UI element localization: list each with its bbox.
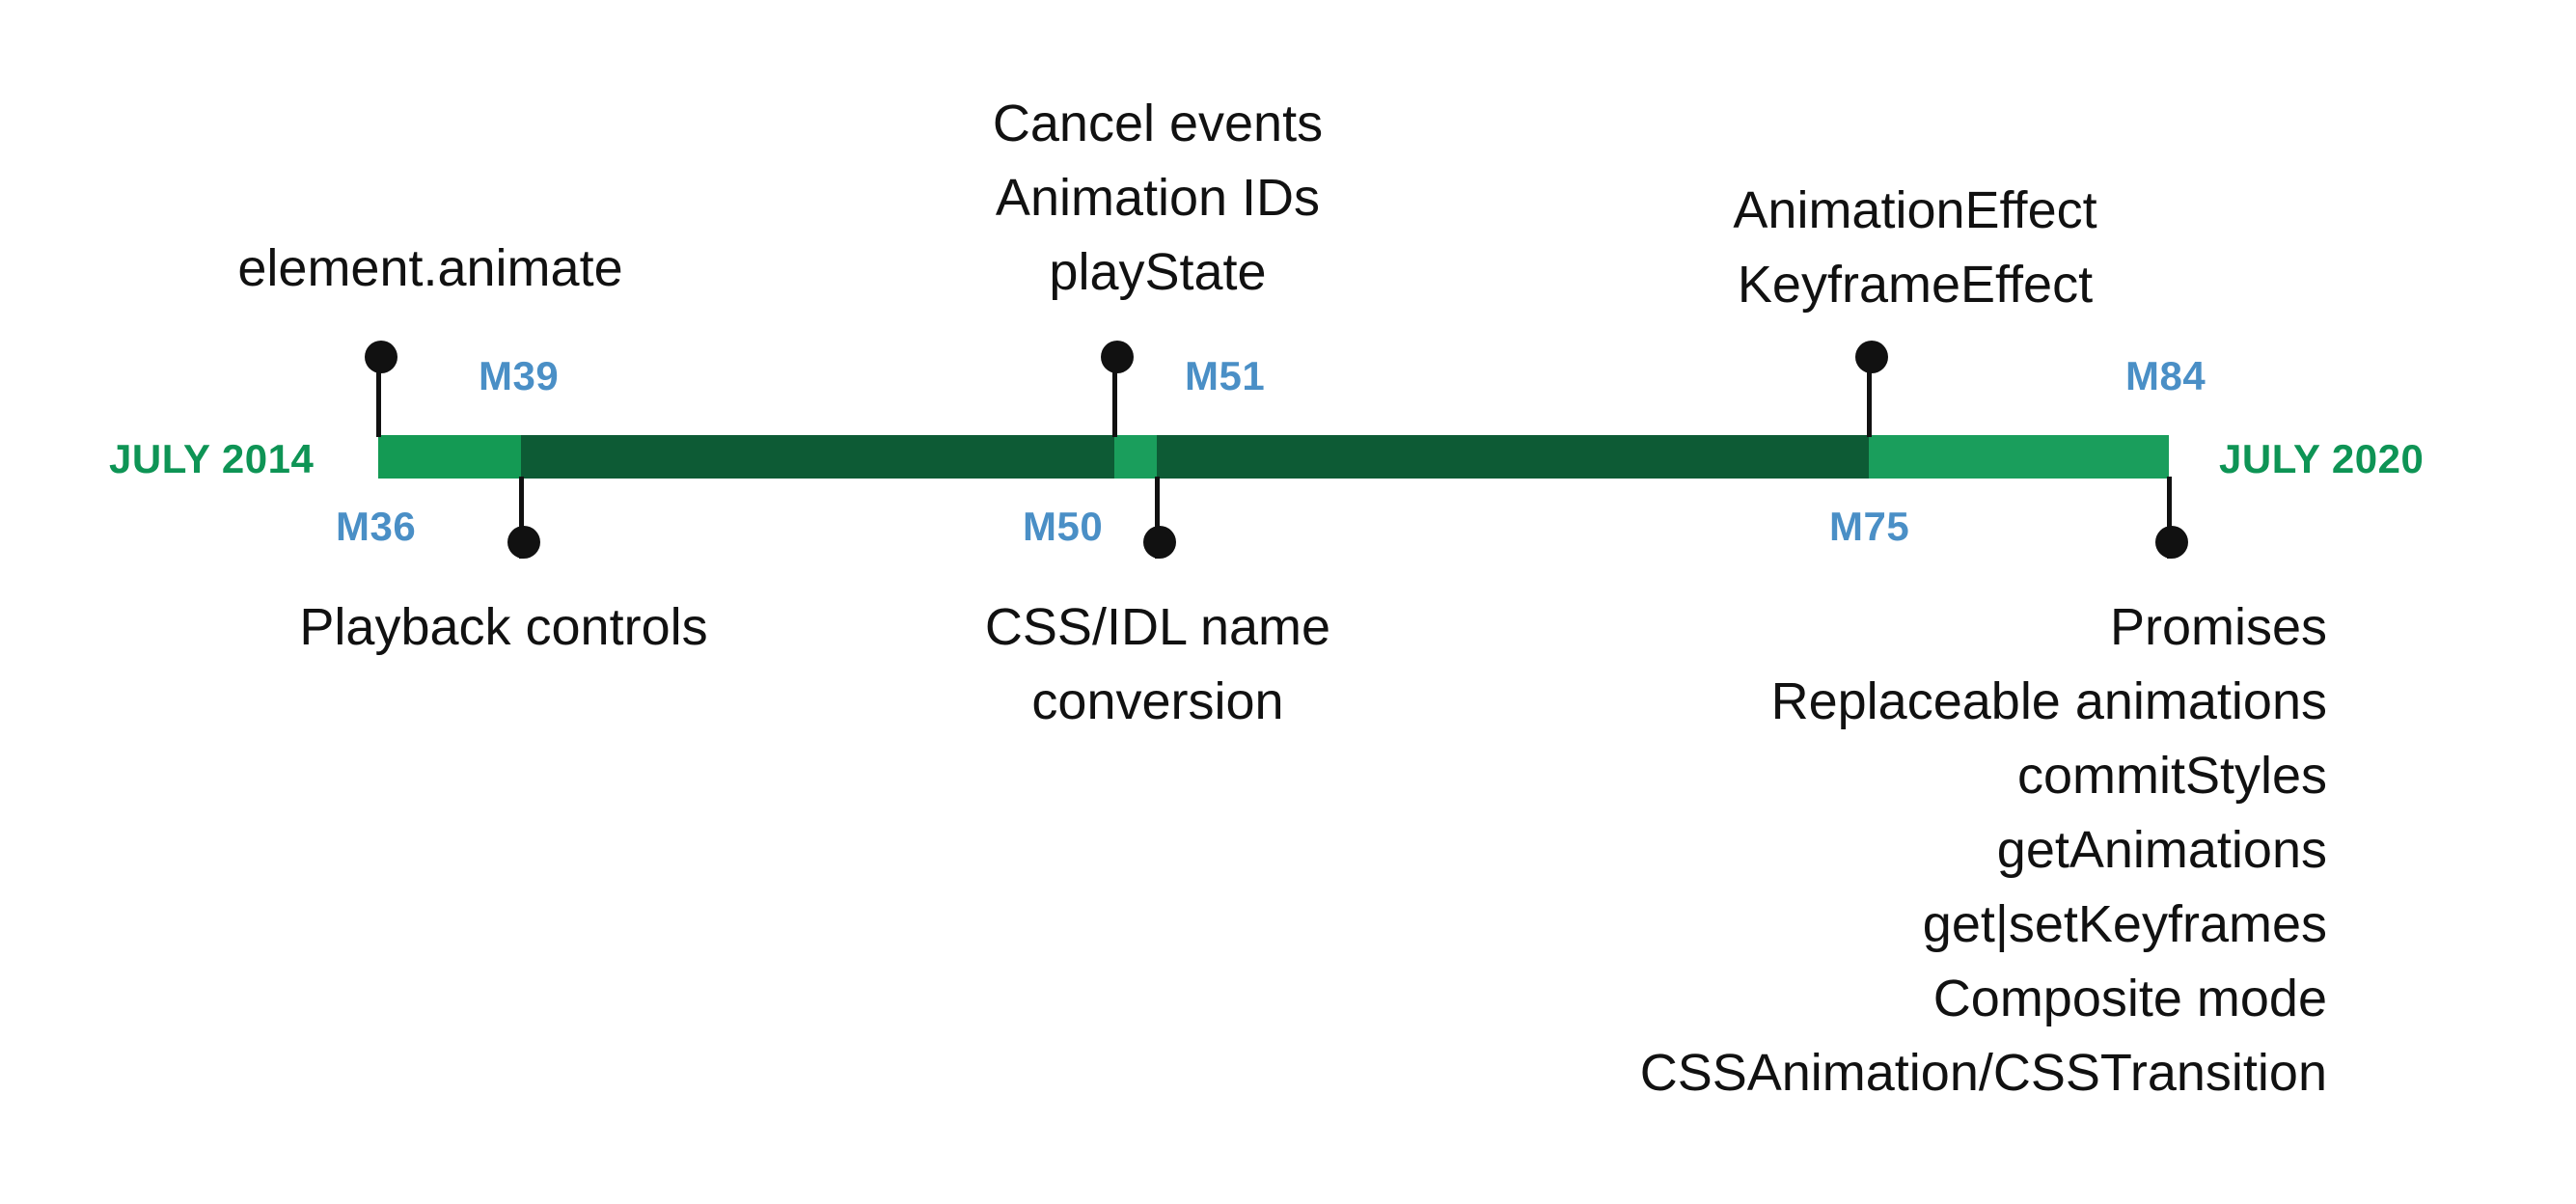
timeline-bar: [378, 435, 2169, 479]
feature-text-m84: Promises Replaceable animations commitSt…: [1640, 590, 2327, 1110]
feature-text-m51: Cancel events Animation IDs playState: [993, 87, 1323, 310]
milestone-label-m39: M39: [479, 353, 559, 399]
timeline-segment-m39-m51: [521, 435, 1114, 479]
end-date-label: JULY 2020: [2219, 436, 2424, 482]
milestone-label-m50: M50: [1023, 504, 1103, 550]
dot-m51: [1101, 341, 1134, 373]
timeline-segment-m50-m75: [1157, 435, 1869, 479]
dot-m75: [1855, 341, 1888, 373]
milestone-label-m36: M36: [336, 504, 416, 550]
timeline-diagram: JULY 2014 JULY 2020 M39 element.animate …: [0, 0, 2576, 1204]
milestone-label-m51: M51: [1185, 353, 1265, 399]
milestone-label-m84: M84: [2125, 353, 2206, 399]
dot-m36: [507, 526, 540, 559]
feature-text-m36: Playback controls: [299, 590, 707, 665]
dot-m84: [2155, 526, 2188, 559]
feature-text-m50: CSS/IDL name conversion: [985, 590, 1330, 739]
start-date-label: JULY 2014: [109, 436, 314, 482]
dot-m50: [1143, 526, 1176, 559]
feature-text-m39: element.animate: [237, 232, 622, 306]
timeline-segment-m75-m84: [1869, 435, 2169, 479]
dot-m39: [365, 341, 397, 373]
feature-text-m75: AnimationEffect KeyframeEffect: [1733, 174, 2096, 322]
milestone-label-m75: M75: [1829, 504, 1909, 550]
timeline-segment-m51-m50: [1114, 435, 1157, 479]
